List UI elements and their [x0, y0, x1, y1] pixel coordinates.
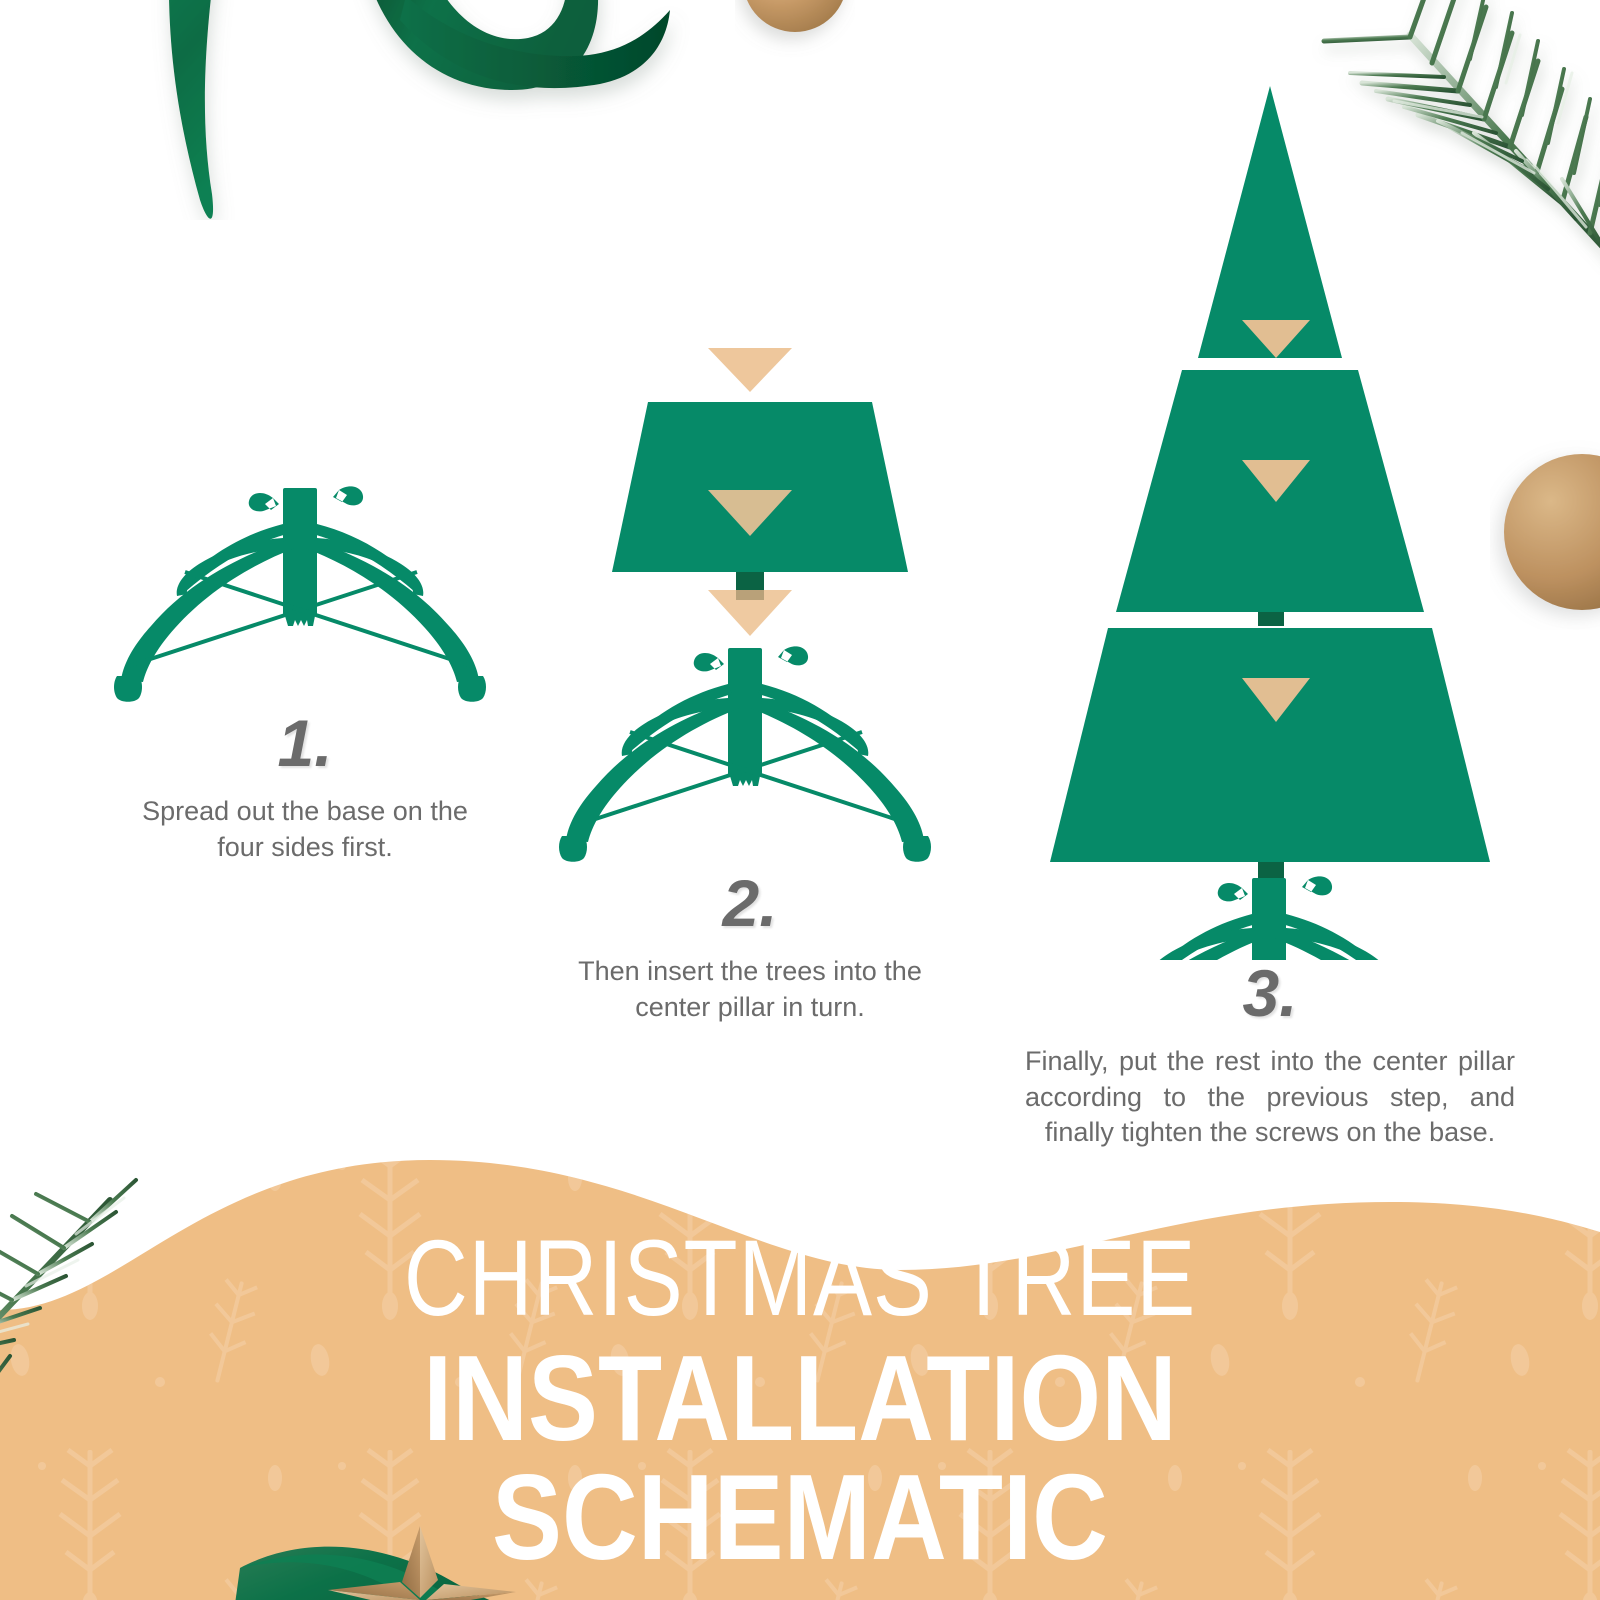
infographic-canvas: 1. Spread out the base on the four sides… — [0, 0, 1600, 1600]
banner-title-line2: INSTALLATION SCHEMATIC — [112, 1339, 1488, 1578]
tree-section — [612, 402, 908, 572]
full-tree-on-stand-icon — [1020, 80, 1520, 960]
step-3-number: 3. — [1000, 960, 1540, 1026]
step-1-number: 1. — [55, 710, 555, 776]
step-2-caption: Then insert the trees into the center pi… — [560, 954, 940, 1025]
step-2-number: 2. — [500, 870, 1000, 936]
gold-ornament-top — [735, 0, 855, 70]
banner-title-line1: CHRISTMAS TREE — [144, 1225, 1456, 1331]
tree-tier-bottom — [1050, 628, 1490, 862]
tree-tier-top — [1198, 86, 1342, 358]
step-2: 2. Then insert the trees into the center… — [500, 340, 1000, 1025]
banner-title: CHRISTMAS TREE INSTALLATION SCHEMATIC — [0, 1225, 1600, 1578]
step-3: 3. Finally, put the rest into the center… — [1000, 80, 1540, 1151]
tree-stand-icon — [95, 480, 515, 710]
step-1: 1. Spread out the base on the four sides… — [55, 480, 555, 865]
green-ribbon-top — [100, 0, 840, 220]
step-1-caption: Spread out the base on the four sides fi… — [125, 794, 485, 865]
arrow-down-top — [708, 348, 792, 392]
tree-section-into-stand-icon — [520, 340, 980, 870]
